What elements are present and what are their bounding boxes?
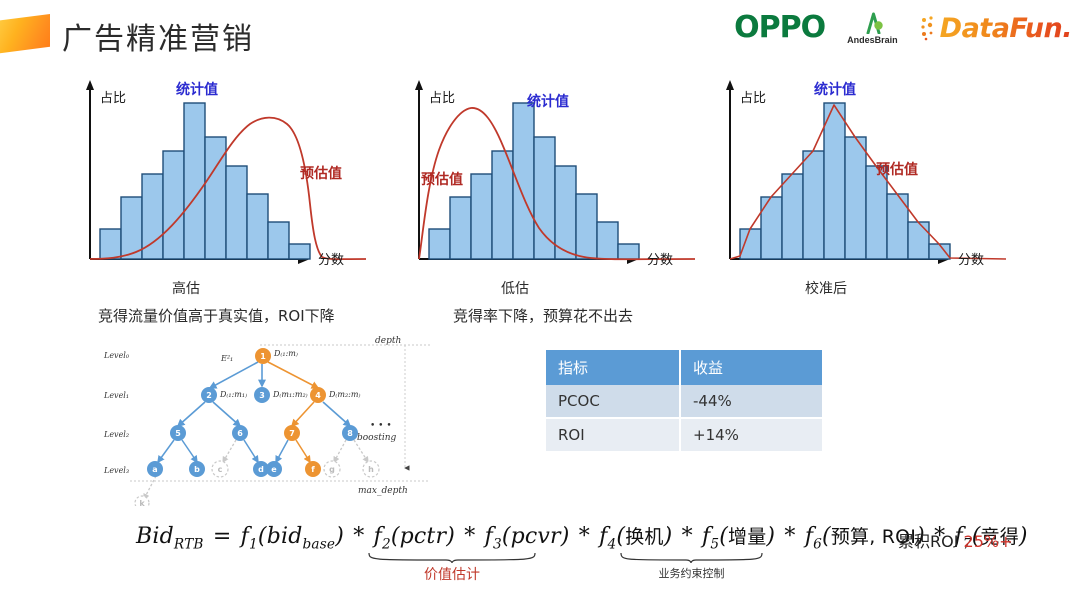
table-header-row: 指标 收益 — [546, 350, 822, 385]
page-title: 广告精准营销 — [62, 14, 254, 58]
table-row: PCOC -44% — [546, 385, 822, 418]
formula-label-value-estimation: 价值估计 — [368, 564, 536, 584]
tree-max-depth-label: max_depth — [358, 486, 408, 496]
cumulative-roi-note: 累积ROI 25%+ — [898, 528, 1013, 552]
table-cell-gain-roi: +14% — [680, 418, 822, 452]
legend-predicted-value: 预估值 — [421, 171, 463, 188]
metrics-table: 指标 收益 PCOC -44% ROI +14% — [546, 350, 822, 453]
formula-brace-value-estimation — [368, 552, 536, 564]
tree-node-data-2: D₍₁:m₁₎ — [219, 390, 247, 399]
chart-y-axis-label: 占比 — [100, 91, 126, 106]
formula-term-5: f5(增量) — [702, 524, 775, 549]
formula-lhs: BidRTB — [136, 524, 204, 549]
cumulative-roi-prefix: 累积ROI — [898, 532, 964, 551]
caption-overestimate-consequence: 竞得流量价值高于真实值，ROI下降 — [98, 305, 335, 326]
tree-node-7: 7 — [289, 429, 295, 438]
formula-op: * — [462, 524, 477, 549]
table-cell-gain-pcoc: -44% — [680, 385, 822, 418]
tree-node-f: f — [311, 465, 315, 474]
andesbrain-logo: AndesBrain — [847, 12, 898, 45]
chart-y-axis-label: 占比 — [740, 91, 766, 106]
oppo-logo: OPPO — [734, 13, 825, 43]
formula-brace-business-constraint — [620, 552, 763, 564]
andesbrain-logo-text: AndesBrain — [847, 36, 898, 45]
chart-x-axis-label: 分数 — [647, 253, 673, 268]
tree-node-d: d — [258, 465, 264, 474]
datafun-logo: DataFun. — [920, 15, 1072, 42]
legend-predicted-value: 预估值 — [876, 161, 918, 178]
chart-x-axis-label: 分数 — [958, 253, 984, 268]
tree-node-g: g — [329, 465, 335, 474]
chart-x-axis-label: 分数 — [318, 253, 344, 268]
tree-depth-label: depth — [375, 336, 401, 346]
legend-statistical-value: 统计值 — [527, 93, 569, 110]
tree-level-label-2: Level₂ — [103, 430, 129, 439]
formula-label-business-constraint: 业务约束控制 — [620, 565, 763, 581]
tree-node-k: k — [139, 499, 145, 506]
chart-y-axis-label: 占比 — [429, 91, 455, 106]
tree-node-data-4: D₍m₂:m₎ — [328, 390, 360, 399]
datafun-logo-text: DataFun. — [940, 15, 1072, 42]
chart-overestimate: 占比 分数 统计值 预估值 高估 — [66, 74, 386, 302]
legend-predicted-value: 预估值 — [300, 165, 342, 182]
formula-term-3: f3(pcvr) — [485, 524, 570, 549]
tree-level-label-0: Level₀ — [103, 351, 130, 360]
tree-node-h: h — [368, 465, 374, 474]
tree-level-label-1: Level₁ — [103, 391, 129, 400]
tree-node-data-1: D₍₁:m₎ — [273, 349, 298, 358]
formula-term-4: f4(换机) — [599, 524, 672, 549]
formula-op: * — [782, 524, 797, 549]
tree-node-1: 1 — [260, 352, 266, 361]
andesbrain-mark-icon — [858, 12, 886, 34]
tree-node-data-3: D₍m₁:m₂₎ — [272, 390, 308, 399]
table-cell-metric-roi: ROI — [546, 418, 680, 452]
datafun-dots-icon — [920, 15, 938, 41]
cumulative-roi-value: 25%+ — [964, 532, 1013, 551]
table-header-gain: 收益 — [680, 350, 822, 385]
tree-node-2: 2 — [206, 391, 212, 400]
formula-op: * — [577, 524, 592, 549]
formula-op: * — [680, 524, 695, 549]
logo-group: OPPO AndesBrain DataFun. — [734, 6, 1072, 50]
table-header-metric: 指标 — [546, 350, 680, 385]
chart-caption-calibrated: 校准后 — [706, 278, 1026, 298]
formula-op: * — [351, 524, 366, 549]
formula-equals: = — [211, 524, 234, 549]
tree-boosting-label: boosting — [357, 433, 397, 443]
chart-calibrated: 占比 分数 统计值 预估值 校准后 — [706, 74, 1026, 302]
tree-level-label-3: Level₃ — [103, 466, 129, 475]
tree-node-a: a — [152, 465, 157, 474]
tree-edge-label-e: E²₁ — [220, 354, 233, 363]
legend-statistical-value: 统计值 — [176, 81, 218, 98]
gbdt-tree-diagram: Level₀ Level₁ Level₂ Level₃ 1 2 3 4 5 6 — [100, 336, 470, 506]
formula-term-1: f1(bidbase) — [241, 524, 344, 549]
decorative-corner-mark — [0, 14, 50, 54]
table-cell-metric-pcoc: PCOC — [546, 385, 680, 418]
tree-node-8: 8 — [347, 429, 353, 438]
legend-statistical-value: 统计值 — [814, 81, 856, 98]
caption-underestimate-consequence: 竞得率下降，预算花不出去 — [453, 305, 633, 326]
tree-boosting-ellipsis: • • • — [370, 421, 392, 431]
formula-term-2: f2(pctr) — [374, 524, 455, 549]
chart-underestimate: 占比 分数 统计值 预估值 低估 — [395, 74, 715, 302]
table-row: ROI +14% — [546, 418, 822, 452]
tree-node-3: 3 — [259, 391, 265, 400]
chart-caption-underestimate: 低估 — [395, 278, 715, 298]
charts-row: 占比 分数 统计值 预估值 高估 — [0, 74, 1080, 302]
caption-row: 竞得流量价值高于真实值，ROI下降 竞得率下降，预算花不出去 — [0, 305, 1080, 331]
tree-node-5: 5 — [175, 429, 181, 438]
tree-node-b: b — [194, 465, 200, 474]
tree-node-4: 4 — [315, 391, 321, 400]
bidding-formula: BidRTB = f1(bidbase) * f2(pctr) * f3(pcv… — [136, 522, 1028, 552]
chart-caption-overestimate: 高估 — [66, 278, 386, 298]
tree-node-c: c — [218, 465, 223, 474]
tree-node-e: e — [271, 465, 277, 474]
tree-node-6: 6 — [237, 429, 243, 438]
